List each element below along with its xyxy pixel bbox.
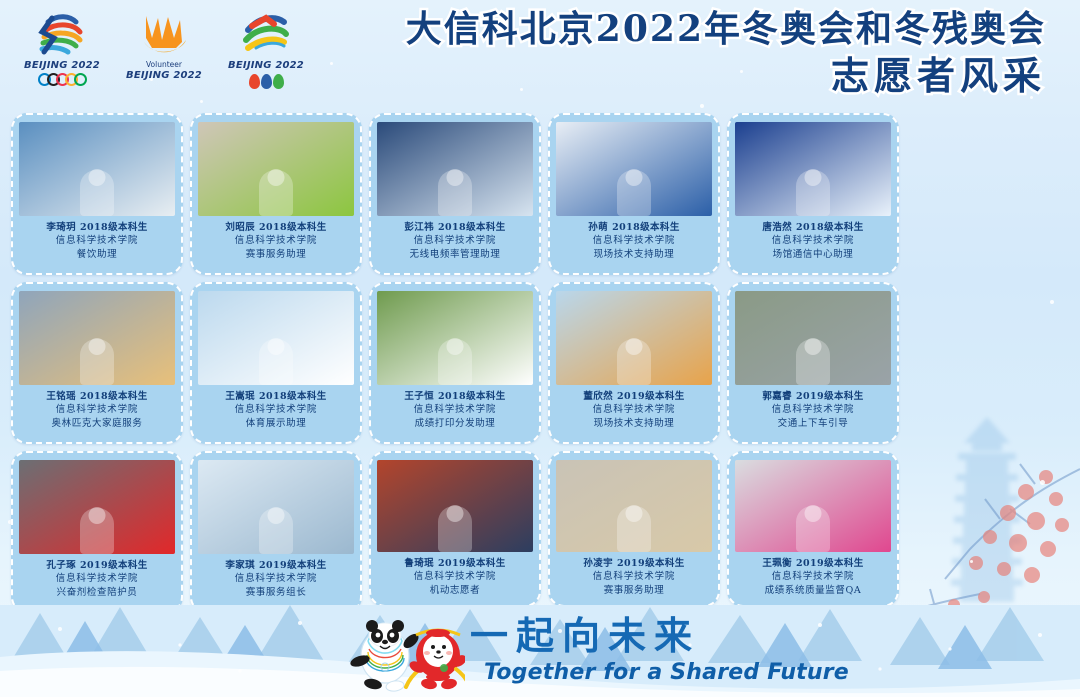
title-line-1: 大信科北京2022年冬奥会和冬残奥会: [406, 6, 1046, 52]
volunteer-name-grade: 董欣然: [583, 391, 613, 402]
volunteer-name-grade: 王铭瑶: [46, 391, 76, 402]
volunteer-caption: 彭江祎2018级本科生信息科学技术学院无线电频率管理助理: [404, 221, 505, 261]
olympic-logo-caption: BEIJING 2022: [18, 60, 106, 71]
volunteer-role: 机动志愿者: [404, 584, 505, 597]
volunteer-name-grade: 王嵩珉: [225, 391, 255, 402]
volunteer-department: 信息科学技术学院: [404, 403, 505, 416]
volunteer-card[interactable]: 唐浩然2018级本科生信息科学技术学院场馆通信中心助理: [727, 113, 899, 275]
volunteer-department: 信息科学技术学院: [404, 234, 505, 247]
suit-portrait-red-wall-image: [377, 460, 533, 552]
beijing-2022-paralympic-logo: BEIJING 2022: [222, 8, 310, 89]
volunteer-role: 成绩系统质量监督QA: [762, 584, 863, 597]
slogan-block: 一起向未来 Together for a Shared Future: [470, 617, 849, 685]
volunteer-role: 赛事服务助理: [225, 248, 326, 261]
volunteer-department: 信息科学技术学院: [225, 572, 326, 585]
volunteer-department: 信息科学技术学院: [46, 234, 147, 247]
volunteer-name-line: 李琦玥2018级本科生: [46, 221, 147, 234]
volunteer-department: 信息科学技术学院: [404, 570, 505, 583]
volunteer-card[interactable]: 刘昭辰2018级本科生信息科学技术学院赛事服务助理: [190, 113, 362, 275]
volunteer-caption: 郭嘉睿2019级本科生信息科学技术学院交通上下车引导: [762, 390, 863, 430]
volunteer-name-grade: 彭江祎: [404, 222, 434, 233]
volunteer-department: 信息科学技术学院: [583, 403, 684, 416]
title-line-2: 志愿者风采: [406, 52, 1046, 101]
volunteer-card[interactable]: 李家琪2019级本科生信息科学技术学院赛事服务组长: [190, 451, 362, 613]
volunteer-role: 交通上下车引导: [762, 417, 863, 430]
volunteer-caption: 王珮衡2019级本科生信息科学技术学院成绩系统质量监督QA: [762, 557, 863, 597]
volunteer-name-line: 孔子琢2019级本科生: [46, 559, 147, 572]
olympic-mascots: [345, 611, 465, 697]
volunteer-card[interactable]: 孙凌宇2019级本科生信息科学技术学院赛事服务助理: [548, 451, 720, 607]
olympic-emblem-icon: [18, 8, 106, 60]
torch-relay-image: [19, 291, 175, 385]
volunteer-card[interactable]: 鲁琦珉2019级本科生信息科学技术学院机动志愿者: [369, 451, 541, 607]
volunteer-card[interactable]: 王铭瑶2018级本科生信息科学技术学院奥林匹克大家庭服务: [11, 282, 183, 444]
volunteer-name-grade: 王子恒: [404, 391, 434, 402]
volunteer-role: 场馆通信中心助理: [762, 248, 863, 261]
volunteer-department: 信息科学技术学院: [762, 234, 863, 247]
footer-banner: 一起向未来 Together for a Shared Future: [0, 605, 1080, 697]
volunteer-grade: 2019级本科生: [796, 391, 864, 402]
volunteer-caption: 王子恒2018级本科生信息科学技术学院成绩打印分发助理: [404, 390, 505, 430]
volunteer-name-line: 唐浩然2018级本科生: [762, 221, 863, 234]
volunteer-name-line: 鲁琦珉2019级本科生: [404, 557, 505, 570]
student-hedge-image: [377, 291, 533, 385]
volunteer-caption: 刘昭辰2018级本科生信息科学技术学院赛事服务助理: [225, 221, 326, 261]
volunteer-role: 赛事服务助理: [583, 584, 684, 597]
volunteer-name-grade: 刘昭辰: [225, 222, 255, 233]
volunteer-role: 餐饮助理: [46, 248, 147, 261]
volunteer-caption: 孙萌2018级本科生信息科学技术学院现场技术支持助理: [588, 221, 679, 261]
mascot-walrus-image: [735, 291, 891, 385]
volunteer-role: 赛事服务组长: [225, 586, 326, 599]
volunteer-name-line: 王子恒2018级本科生: [404, 390, 505, 403]
volunteer-grade: 2018级本科生: [80, 391, 148, 402]
volunteer-card[interactable]: 孔子琢2019级本科生信息科学技术学院兴奋剂检查陪护员: [11, 451, 183, 613]
volunteer-grade: 2018级本科生: [796, 222, 864, 233]
volunteer-name-grade: 郭嘉睿: [762, 391, 792, 402]
volunteer-name-line: 郭嘉睿2019级本科生: [762, 390, 863, 403]
volunteer-name-line: 王珮衡2019级本科生: [762, 557, 863, 570]
volunteer-card[interactable]: 王珮衡2019级本科生信息科学技术学院成绩系统质量监督QA: [727, 451, 899, 607]
volunteer-name-grade: 鲁琦珉: [404, 558, 434, 569]
volunteer-grade: 2018级本科生: [259, 391, 327, 402]
volunteer-department: 信息科学技术学院: [583, 570, 684, 583]
slogan-chinese: 一起向未来: [470, 617, 849, 655]
volunteer-card[interactable]: 彭江祎2018级本科生信息科学技术学院无线电频率管理助理: [369, 113, 541, 275]
volunteer-name-line: 王铭瑶2018级本科生: [46, 390, 147, 403]
volunteer-name-grade: 李琦玥: [46, 222, 76, 233]
volunteer-logo-caption: BEIJING 2022: [120, 70, 208, 81]
volunteer-grade: 2018级本科生: [438, 391, 506, 402]
poster-root: BEIJING 2022 Volunteer BEIJING 2022: [0, 0, 1080, 697]
volunteer-caption: 王嵩珉2018级本科生信息科学技术学院体育展示助理: [225, 390, 326, 430]
volunteer-name-line: 孙凌宇2019级本科生: [583, 557, 684, 570]
paralympic-emblem-icon: [222, 8, 310, 60]
volunteer-role: 现场技术支持助理: [588, 248, 679, 261]
volunteer-card[interactable]: 王子恒2018级本科生信息科学技术学院成绩打印分发助理: [369, 282, 541, 444]
slogan-english: Together for a Shared Future: [484, 660, 849, 685]
paralympic-logo-caption: BEIJING 2022: [222, 60, 310, 71]
volunteer-caption: 孔子琢2019级本科生信息科学技术学院兴奋剂检查陪护员: [46, 559, 147, 599]
volunteer-grade: 2018级本科生: [438, 222, 506, 233]
volunteer-card[interactable]: 孙萌2018级本科生信息科学技术学院现场技术支持助理: [548, 113, 720, 275]
curling-venue-image: [556, 122, 712, 216]
volunteer-role: 无线电频率管理助理: [404, 248, 505, 261]
two-students-certificate-image: [556, 291, 712, 385]
volunteer-name-grade: 孙萌: [588, 222, 608, 233]
volunteer-grade: 2018级本科生: [80, 222, 148, 233]
volunteer-name-grade: 李家琪: [225, 560, 255, 571]
volunteer-name-grade: 孔子琢: [46, 560, 76, 571]
paralympic-agitos-icon: [222, 74, 310, 89]
volunteer-department: 信息科学技术学院: [225, 234, 326, 247]
countdown-100-days-wall-image: [198, 291, 354, 385]
beijing-2022-olympic-logo: BEIJING 2022: [18, 8, 106, 86]
volunteer-flame-icon: [120, 8, 208, 60]
olympic-rings-icon: [18, 73, 106, 86]
husky-photo-frame-image: [19, 122, 175, 216]
experience-beijing-rink-image: [735, 122, 891, 216]
volunteer-department: 信息科学技术学院: [46, 403, 147, 416]
volunteer-grade: 2019级本科生: [617, 558, 685, 569]
volunteer-caption: 王铭瑶2018级本科生信息科学技术学院奥林匹克大家庭服务: [46, 390, 147, 430]
avocado-plush-image: [198, 122, 354, 216]
volunteer-name-grade: 唐浩然: [762, 222, 792, 233]
hoodie-portrait-image: [556, 460, 712, 552]
volunteer-caption: 李琦玥2018级本科生信息科学技术学院餐饮助理: [46, 221, 147, 261]
volunteer-name-line: 董欣然2019级本科生: [583, 390, 684, 403]
venue-equipment-image: [377, 122, 533, 216]
volunteer-name-grade: 孙凌宇: [583, 558, 613, 569]
volunteer-name-line: 刘昭辰2018级本科生: [225, 221, 326, 234]
volunteer-grade: 2019级本科生: [438, 558, 506, 569]
volunteer-grade: 2018级本科生: [259, 222, 327, 233]
volunteer-department: 信息科学技术学院: [762, 403, 863, 416]
volunteer-card[interactable]: 董欣然2019级本科生信息科学技术学院现场技术支持助理: [548, 282, 720, 444]
volunteer-department: 信息科学技术学院: [46, 572, 147, 585]
volunteer-role: 体育展示助理: [225, 417, 326, 430]
shuey-rhon-rhon-booth-image: [19, 460, 175, 554]
volunteer-caption: 唐浩然2018级本科生信息科学技术学院场馆通信中心助理: [762, 221, 863, 261]
volunteer-grade: 2018级本科生: [612, 222, 680, 233]
volunteer-caption: 鲁琦珉2019级本科生信息科学技术学院机动志愿者: [404, 557, 505, 597]
poster-title: 大信科北京2022年冬奥会和冬残奥会 志愿者风采: [406, 6, 1046, 101]
volunteer-grade: 2019级本科生: [259, 560, 327, 571]
volunteer-caption: 孙凌宇2019级本科生信息科学技术学院赛事服务助理: [583, 557, 684, 597]
volunteer-card[interactable]: 李琦玥2018级本科生信息科学技术学院餐饮助理: [11, 113, 183, 275]
volunteer-department: 信息科学技术学院: [225, 403, 326, 416]
snow-forest-portrait-image: [735, 460, 891, 552]
volunteer-name-line: 李家琪2019级本科生: [225, 559, 326, 572]
volunteer-grade: 2019级本科生: [617, 391, 685, 402]
volunteer-role: 成绩打印分发助理: [404, 417, 505, 430]
volunteer-grade: 2019级本科生: [796, 558, 864, 569]
volunteer-role: 现场技术支持助理: [583, 417, 684, 430]
volunteer-name-line: 王嵩珉2018级本科生: [225, 390, 326, 403]
volunteer-card[interactable]: 王嵩珉2018级本科生信息科学技术学院体育展示助理: [190, 282, 362, 444]
volunteer-grade: 2019级本科生: [80, 560, 148, 571]
volunteer-name-line: 孙萌2018级本科生: [588, 221, 679, 234]
volunteer-beijing-2022-logo: Volunteer BEIJING 2022: [120, 8, 208, 81]
volunteer-department: 信息科学技术学院: [762, 570, 863, 583]
volunteer-role: 兴奋剂检查陪护员: [46, 586, 147, 599]
volunteer-role: 奥林匹克大家庭服务: [46, 417, 147, 430]
volunteer-card[interactable]: 郭嘉睿2019级本科生信息科学技术学院交通上下车引导: [727, 282, 899, 444]
ice-rink-interior-image: [198, 460, 354, 554]
volunteer-caption: 董欣然2019级本科生信息科学技术学院现场技术支持助理: [583, 390, 684, 430]
volunteer-caption: 李家琪2019级本科生信息科学技术学院赛事服务组长: [225, 559, 326, 599]
volunteer-logo-sub: Volunteer: [120, 60, 208, 69]
volunteer-department: 信息科学技术学院: [588, 234, 679, 247]
volunteer-name-grade: 王珮衡: [762, 558, 792, 569]
volunteer-name-line: 彭江祎2018级本科生: [404, 221, 505, 234]
logo-row: BEIJING 2022 Volunteer BEIJING 2022: [18, 8, 310, 89]
